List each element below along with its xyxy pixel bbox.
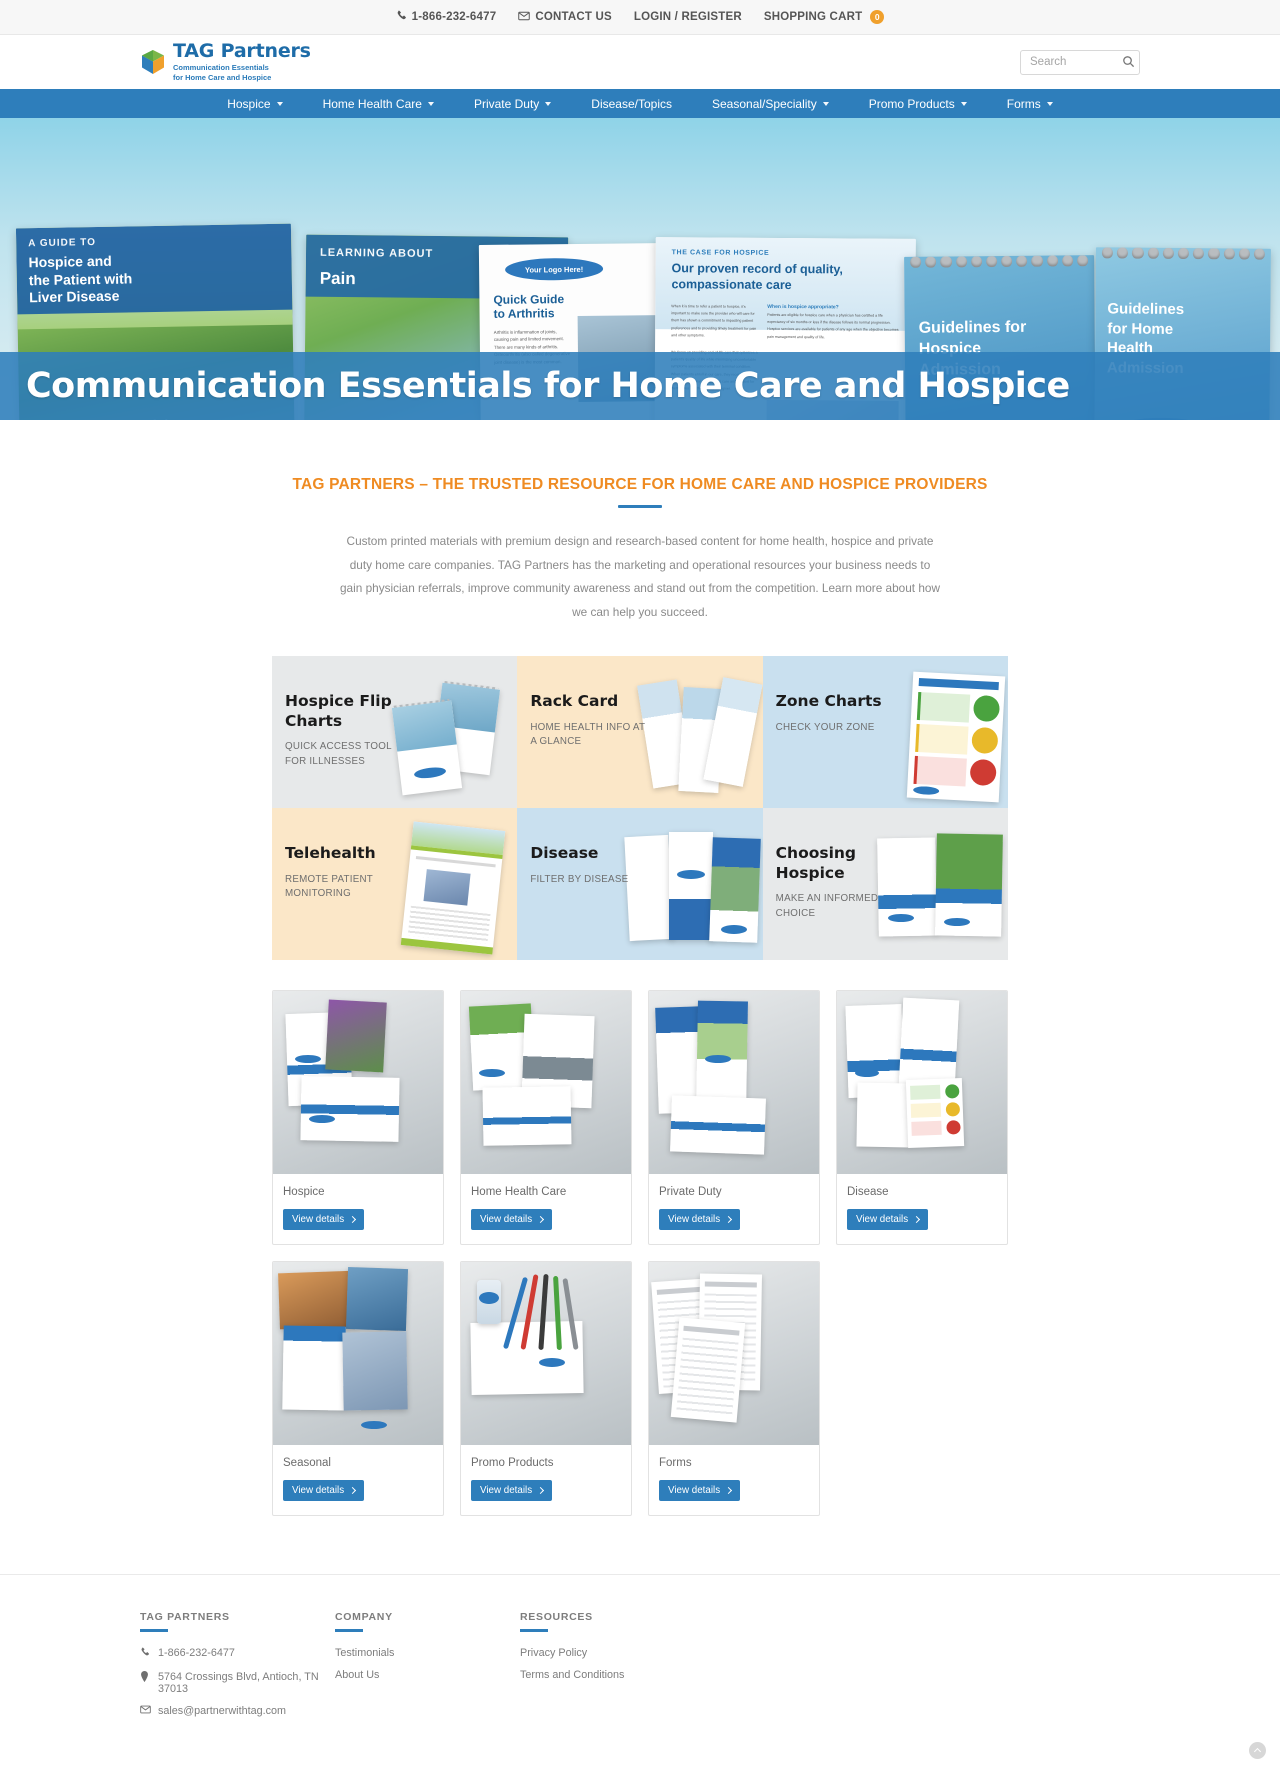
- nav-item-label: Hospice: [227, 97, 270, 111]
- product-card-body: FormsView details: [649, 1445, 819, 1515]
- feature-tile-subtitle: REMOTE PATIENT MONITORING: [285, 873, 400, 902]
- telehealth-art: [407, 826, 499, 950]
- private-duty-materials-art: [649, 991, 819, 1174]
- view-details-label: View details: [480, 1485, 532, 1496]
- product-card-body: Promo ProductsView details: [461, 1445, 631, 1515]
- footer-heading: COMPANY: [335, 1611, 520, 1623]
- nav-item-label: Private Duty: [474, 97, 539, 111]
- envelope-icon: [518, 11, 530, 24]
- feature-tile-subtitle: QUICK ACCESS TOOL FOR ILLNESSES: [285, 740, 400, 769]
- utility-bar: 1-866-232-6477 CONTACT US LOGIN / REGIST…: [0, 0, 1280, 35]
- search-box: [1020, 50, 1140, 75]
- footer-heading-rule: [520, 1629, 548, 1632]
- feature-tile-title: Rack Card: [530, 692, 650, 711]
- product-card-image: [273, 991, 443, 1174]
- product-card-image: [461, 1262, 631, 1445]
- product-cards-grid: HospiceView details Home Health CareView…: [272, 990, 1008, 1516]
- footer-phone-text: 1-866-232-6477: [158, 1647, 235, 1659]
- view-details-label: View details: [292, 1485, 344, 1496]
- phone-icon: [140, 1647, 151, 1662]
- nav-item-hospice[interactable]: Hospice: [207, 89, 302, 118]
- product-card-private-duty[interactable]: Private DutyView details: [648, 990, 820, 1245]
- login-register-label: LOGIN / REGISTER: [634, 11, 742, 23]
- seasonal-materials-art: [273, 1262, 443, 1445]
- logo-title: TAG Partners: [173, 42, 311, 61]
- product-card-promo-products[interactable]: Promo ProductsView details: [460, 1261, 632, 1516]
- footer-address-text: 5764 Crossings Blvd, Antioch, TN 37013: [158, 1671, 335, 1695]
- nav-item-label: Disease/Topics: [591, 97, 672, 111]
- product-card-title: Disease: [847, 1186, 997, 1198]
- footer-link-privacy-policy[interactable]: Privacy Policy: [520, 1647, 770, 1659]
- spiral-binding-icon: [904, 255, 1094, 268]
- footer-link-label: Privacy Policy: [520, 1647, 587, 1659]
- chevron-down-icon: [428, 102, 434, 106]
- chevron-right-icon: [349, 1216, 356, 1223]
- feature-tiles-grid: Hospice Flip ChartsQUICK ACCESS TOOL FOR…: [272, 656, 1008, 960]
- footer-column-company: COMPANY TestimonialsAbout Us: [335, 1611, 520, 1729]
- tag-diamond-icon: [140, 49, 166, 75]
- feature-tile-title: Hospice Flip Charts: [285, 692, 405, 730]
- chevron-up-icon: [1254, 1748, 1261, 1755]
- product-card-body: SeasonalView details: [273, 1445, 443, 1515]
- feature-tile-subtitle: MAKE AN INFORMED CHOICE: [776, 892, 891, 921]
- product-card-title: Home Health Care: [471, 1186, 621, 1198]
- feature-tile-title: Disease: [530, 844, 650, 863]
- search-submit-button[interactable]: [1121, 55, 1135, 69]
- intro-divider: [618, 505, 662, 508]
- product-card-image: [461, 991, 631, 1174]
- product-card-forms[interactable]: FormsView details: [648, 1261, 820, 1516]
- hero-title: Communication Essentials for Home Care a…: [0, 366, 1070, 406]
- rack-card-art: [639, 678, 759, 798]
- feature-tile-zone-charts[interactable]: Zone ChartsCHECK YOUR ZONE: [763, 656, 1008, 808]
- promo-products-art: [461, 1262, 631, 1445]
- product-card-home-health-care[interactable]: Home Health CareView details: [460, 990, 632, 1245]
- shopping-cart-label: SHOPPING CART: [764, 11, 862, 23]
- feature-tile-hospice-flip-charts[interactable]: Hospice Flip ChartsQUICK ACCESS TOOL FOR…: [272, 656, 517, 808]
- chevron-right-icon: [349, 1487, 356, 1494]
- chevron-down-icon: [545, 102, 551, 106]
- nav-item-label: Seasonal/Speciality: [712, 97, 817, 111]
- feature-tile-title: Choosing Hospice: [776, 844, 896, 882]
- nav-item-disease-topics[interactable]: Disease/Topics: [571, 89, 692, 118]
- footer-email[interactable]: sales@partnerwithtag.com: [140, 1705, 335, 1719]
- product-card-title: Private Duty: [659, 1186, 809, 1198]
- view-details-button[interactable]: View details: [847, 1209, 928, 1230]
- contact-us-label: CONTACT US: [535, 11, 612, 23]
- phone-link[interactable]: 1-866-232-6477: [396, 10, 497, 24]
- view-details-button[interactable]: View details: [283, 1209, 364, 1230]
- view-details-button[interactable]: View details: [471, 1480, 552, 1501]
- spiral-binding-icon: [1096, 247, 1271, 260]
- feature-tile-disease[interactable]: DiseaseFILTER BY DISEASE: [517, 808, 762, 960]
- product-card-title: Forms: [659, 1457, 809, 1469]
- site-header: TAG Partners Communication Essentials fo…: [0, 35, 1280, 89]
- feature-tile-choosing-hospice[interactable]: Choosing HospiceMAKE AN INFORMED CHOICE: [763, 808, 1008, 960]
- zone-chart-art: [910, 674, 1002, 800]
- chevron-right-icon: [537, 1216, 544, 1223]
- disease-materials-art: [837, 991, 1007, 1174]
- feature-tile-title: Zone Charts: [776, 692, 896, 711]
- footer-heading-rule: [140, 1629, 168, 1632]
- nav-item-seasonal-speciality[interactable]: Seasonal/Speciality: [692, 89, 849, 118]
- location-pin-icon: [140, 1671, 151, 1687]
- logo-subtitle-line1: Communication Essentials: [173, 63, 311, 73]
- site-logo[interactable]: TAG Partners Communication Essentials fo…: [140, 42, 311, 83]
- feature-tile-telehealth[interactable]: TelehealthREMOTE PATIENT MONITORING: [272, 808, 517, 960]
- phone-icon: [396, 10, 407, 24]
- footer-heading-rule: [335, 1629, 363, 1632]
- envelope-icon: [140, 1705, 151, 1719]
- feature-tile-rack-card[interactable]: Rack CardHOME HEALTH INFO AT A GLANCE: [517, 656, 762, 808]
- page-wrapper: 1-866-232-6477 CONTACT US LOGIN / REGIST…: [0, 0, 1280, 1769]
- product-card-image: [273, 1262, 443, 1445]
- hospice-materials-art: [273, 991, 443, 1174]
- nav-item-home-health-care[interactable]: Home Health Care: [303, 89, 454, 118]
- product-card-body: HospiceView details: [273, 1174, 443, 1244]
- chevron-right-icon: [725, 1487, 732, 1494]
- nav-item-label: Home Health Care: [323, 97, 422, 111]
- product-card-title: Hospice: [283, 1186, 433, 1198]
- product-card-body: Private DutyView details: [649, 1174, 819, 1244]
- chevron-right-icon: [725, 1216, 732, 1223]
- product-card-disease[interactable]: DiseaseView details: [836, 990, 1008, 1245]
- logo-subtitle-line2: for Home Care and Hospice: [173, 73, 311, 83]
- choosing-hospice-art: [878, 834, 1006, 944]
- footer-link-testimonials[interactable]: Testimonials: [335, 1647, 520, 1659]
- view-details-label: View details: [668, 1485, 720, 1496]
- chevron-right-icon: [913, 1216, 920, 1223]
- shopping-cart-link[interactable]: SHOPPING CART 0: [764, 10, 884, 24]
- site-footer: TAG PARTNERS 1-866-232-6477 5764 Crossin…: [140, 1575, 1140, 1769]
- nav-item-promo-products[interactable]: Promo Products: [849, 89, 987, 118]
- footer-link-about-us[interactable]: About Us: [335, 1669, 520, 1681]
- feature-tile-subtitle: FILTER BY DISEASE: [530, 873, 645, 888]
- home-health-materials-art: [461, 991, 631, 1174]
- footer-link-label: Terms and Conditions: [520, 1669, 624, 1681]
- chevron-down-icon: [961, 102, 967, 106]
- forms-art: [649, 1262, 819, 1445]
- intro-paragraph: Custom printed materials with premium de…: [340, 530, 940, 624]
- nav-item-label: Promo Products: [869, 97, 955, 111]
- view-details-label: View details: [480, 1214, 532, 1225]
- product-card-image: [649, 991, 819, 1174]
- hero-title-overlay: Communication Essentials for Home Care a…: [0, 352, 1280, 420]
- footer-heading: TAG PARTNERS: [140, 1611, 335, 1623]
- contact-us-link[interactable]: CONTACT US: [518, 11, 612, 24]
- footer-link-label: Testimonials: [335, 1647, 394, 1659]
- main-navigation: HospiceHome Health CarePrivate DutyDisea…: [0, 89, 1280, 118]
- footer-phone[interactable]: 1-866-232-6477: [140, 1647, 335, 1662]
- product-card-hospice[interactable]: HospiceView details: [272, 990, 444, 1245]
- chevron-down-icon: [277, 102, 283, 106]
- view-details-button[interactable]: View details: [659, 1209, 740, 1230]
- view-details-label: View details: [292, 1214, 344, 1225]
- nav-item-label: Forms: [1007, 97, 1041, 111]
- feature-tile-subtitle: CHECK YOUR ZONE: [776, 721, 891, 736]
- chevron-down-icon: [1047, 102, 1053, 106]
- login-register-link[interactable]: LOGIN / REGISTER: [634, 11, 742, 23]
- chevron-down-icon: [823, 102, 829, 106]
- product-card-image: [649, 1262, 819, 1445]
- product-card-title: Promo Products: [471, 1457, 621, 1469]
- nav-item-private-duty[interactable]: Private Duty: [454, 89, 571, 118]
- intro-heading: TAG PARTNERS – THE TRUSTED RESOURCE FOR …: [140, 476, 1140, 494]
- footer-address: 5764 Crossings Blvd, Antioch, TN 37013: [140, 1671, 335, 1695]
- view-details-label: View details: [668, 1214, 720, 1225]
- product-card-title: Seasonal: [283, 1457, 433, 1469]
- view-details-button[interactable]: View details: [283, 1480, 364, 1501]
- product-card-body: DiseaseView details: [837, 1174, 1007, 1244]
- product-card-image: [837, 991, 1007, 1174]
- feature-tile-title: Telehealth: [285, 844, 405, 863]
- footer-email-text: sales@partnerwithtag.com: [158, 1705, 286, 1717]
- hero-banner: A GUIDE TO Hospice andthe Patient withLi…: [0, 118, 1280, 420]
- nav-item-forms[interactable]: Forms: [987, 89, 1073, 118]
- feature-tile-subtitle: HOME HEALTH INFO AT A GLANCE: [530, 721, 645, 750]
- footer-link-label: About Us: [335, 1669, 379, 1681]
- cart-count-badge: 0: [870, 10, 884, 24]
- footer-link-terms-and-conditions[interactable]: Terms and Conditions: [520, 1669, 770, 1681]
- footer-column-tag-partners: TAG PARTNERS 1-866-232-6477 5764 Crossin…: [140, 1611, 335, 1729]
- view-details-button[interactable]: View details: [471, 1209, 552, 1230]
- scroll-to-top-button[interactable]: [1249, 1742, 1266, 1759]
- view-details-label: View details: [856, 1214, 908, 1225]
- footer-heading: RESOURCES: [520, 1611, 770, 1623]
- chevron-right-icon: [537, 1487, 544, 1494]
- product-card-seasonal[interactable]: SeasonalView details: [272, 1261, 444, 1516]
- view-details-button[interactable]: View details: [659, 1480, 740, 1501]
- phone-number: 1-866-232-6477: [412, 11, 497, 23]
- flip-chart-art: [393, 686, 511, 798]
- footer-column-resources: RESOURCES Privacy PolicyTerms and Condit…: [520, 1611, 770, 1729]
- intro-section: TAG PARTNERS – THE TRUSTED RESOURCE FOR …: [140, 420, 1140, 624]
- product-card-body: Home Health CareView details: [461, 1174, 631, 1244]
